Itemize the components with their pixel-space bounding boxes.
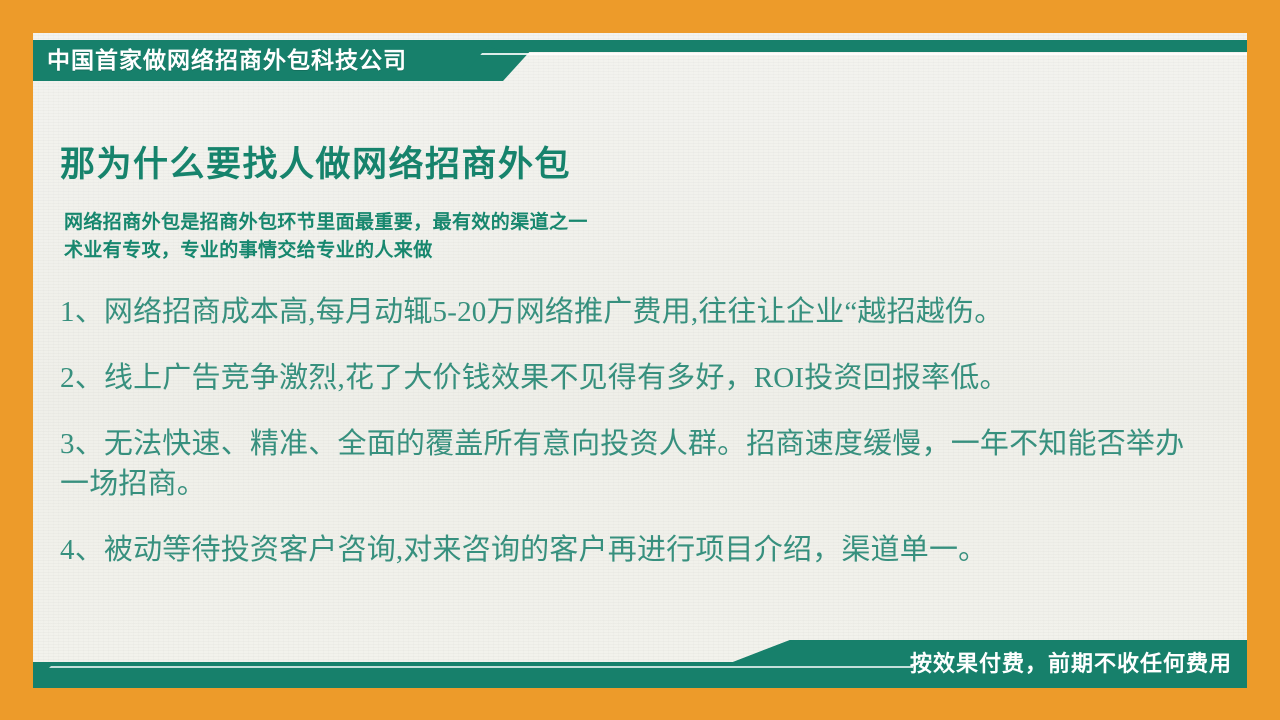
slide-canvas: 中国首家做网络招商外包科技公司 那为什么要找人做网络招商外包 网络招商外包是招商… [0, 0, 1280, 720]
list-item: 2、线上广告竞争激烈,花了大价钱效果不见得有多好，ROI投资回报率低。 [60, 358, 1195, 398]
subtitle-line-1: 网络招商外包是招商外包环节里面最重要，最有效的渠道之一 [64, 209, 588, 237]
page-title: 那为什么要找人做网络招商外包 [60, 136, 571, 187]
reasons-list: 1、网络招商成本高,每月动辄5-20万网络推广费用,往往让企业“越招越伤。 2、… [60, 292, 1195, 570]
subtitle-block: 网络招商外包是招商外包环节里面最重要，最有效的渠道之一 术业有专攻，专业的事情交… [64, 209, 588, 265]
footer-tagline: 按效果付费，前期不收任何费用 [910, 648, 1232, 680]
list-item: 1、网络招商成本高,每月动辄5-20万网络推广费用,往往让企业“越招越伤。 [60, 292, 1195, 332]
list-item: 3、无法快速、精准、全面的覆盖所有意向投资人群。招商速度缓慢，一年不知能否举办一… [60, 424, 1195, 504]
list-item: 4、被动等待投资客户咨询,对来咨询的客户再进行项目介绍，渠道单一。 [60, 530, 1195, 570]
header-badge-label: 中国首家做网络招商外包科技公司 [47, 44, 407, 77]
subtitle-line-2: 术业有专攻，专业的事情交给专业的人来做 [64, 237, 588, 265]
